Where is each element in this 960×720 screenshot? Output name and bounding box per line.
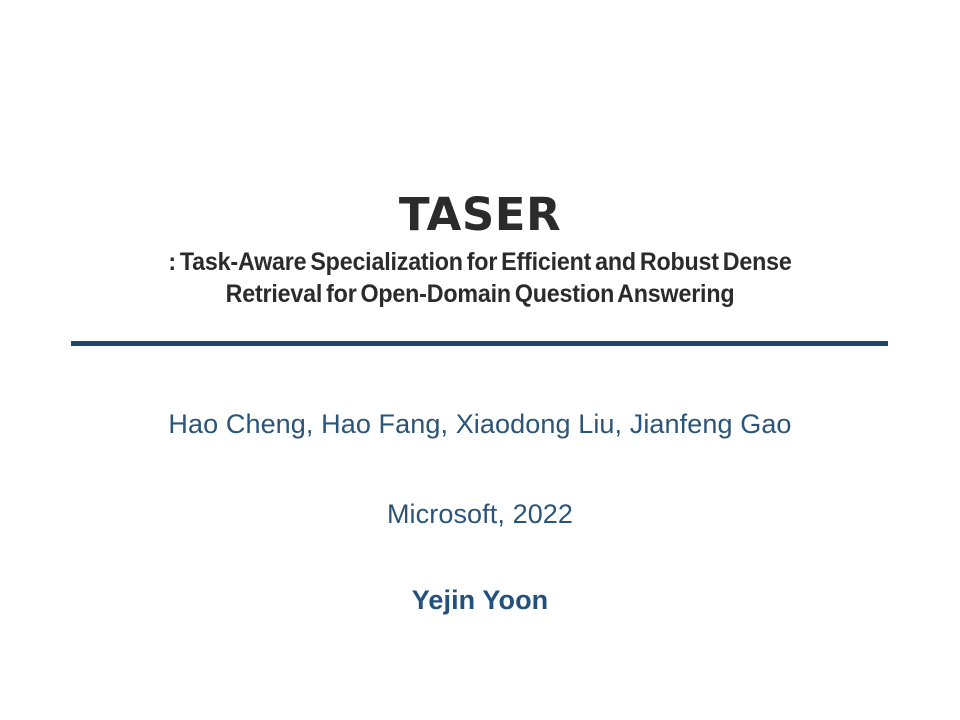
title-divider-rule [71, 341, 888, 346]
slide-subtitle-line-2: Retrieval for Open-Domain Question Answe… [100, 278, 861, 310]
slide-header-block: TASER : Task-Aware Specialization for Ef… [71, 190, 889, 310]
title-slide: TASER : Task-Aware Specialization for Ef… [0, 0, 960, 720]
presenter-name: Yejin Yoon [71, 584, 889, 616]
affiliation-line: Microsoft, 2022 [71, 498, 889, 530]
slide-subtitle: : Task-Aware Specialization for Efficien… [100, 246, 861, 310]
slide-subtitle-line-1: : Task-Aware Specialization for Efficien… [100, 246, 861, 278]
slide-body-block: Hao Cheng, Hao Fang, Xiaodong Liu, Jianf… [71, 408, 889, 616]
authors-line: Hao Cheng, Hao Fang, Xiaodong Liu, Jianf… [71, 408, 889, 440]
page-title: TASER [71, 190, 889, 240]
